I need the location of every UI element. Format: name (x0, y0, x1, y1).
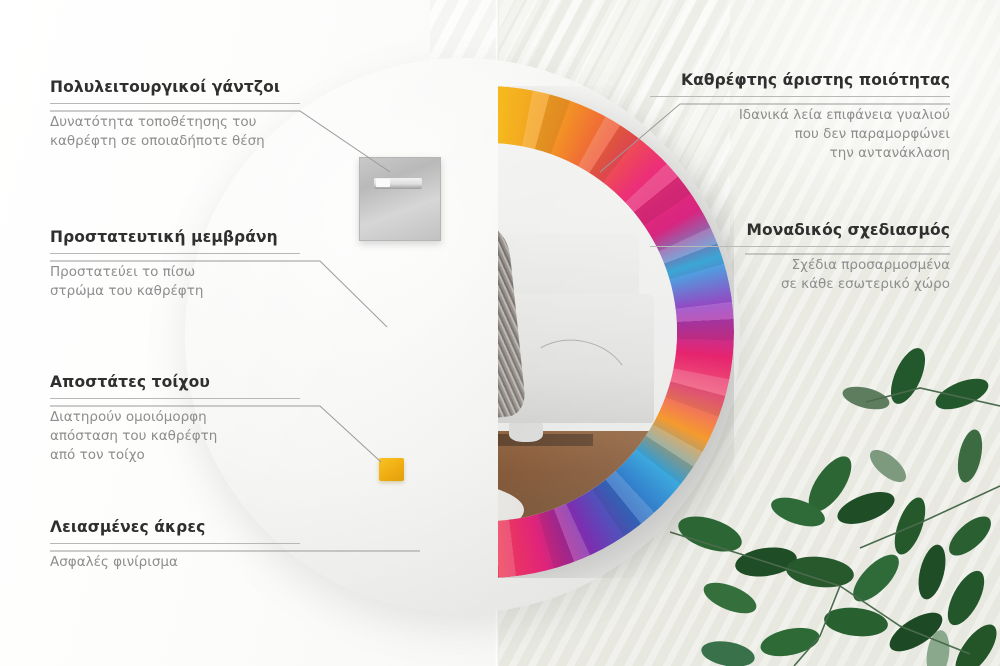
callout-wall-spacers: Αποστάτες τοίχου Διατηρούν ομοιόμορφη απ… (50, 373, 300, 465)
callout-rule (50, 543, 300, 544)
mirror-glass (498, 143, 677, 522)
wall-spacer-yellow (379, 458, 404, 481)
callout-multifunctional-hooks: Πολυλειτουργικοί γάντζοι Δυνατότητα τοπο… (50, 78, 300, 151)
mirror-glass-sheen (498, 143, 677, 522)
callout-body: Διατηρούν ομοιόμορφη απόσταση του καθρέφ… (50, 408, 300, 465)
callout-rule (650, 246, 950, 247)
callout-protective-membrane: Προστατευτική μεμβράνη Προστατεύει το πί… (50, 228, 300, 301)
callout-top-quality-mirror: Καθρέφτης άριστης ποιότητας Ιδανικά λεία… (650, 71, 950, 163)
hook-slot (374, 178, 422, 189)
callout-title: Αποστάτες τοίχου (50, 373, 300, 391)
callout-title: Λειασμένες άκρες (50, 518, 300, 536)
callout-title: Προστατευτική μεμβράνη (50, 228, 300, 246)
callout-rule (650, 96, 950, 97)
infographic-canvas: Πολυλειτουργικοί γάντζοι Δυνατότητα τοπο… (0, 0, 1000, 666)
callout-title: Πολυλειτουργικοί γάντζοι (50, 78, 300, 96)
callout-rule (50, 398, 300, 399)
callout-body: Δυνατότητα τοποθέτησης του καθρέφτη σε ο… (50, 113, 300, 151)
hanging-hook-plate (359, 157, 441, 241)
callout-smoothed-edges: Λειασμένες άκρες Ασφαλές φινίρισμα (50, 518, 300, 572)
callout-body: Σχέδια προσαρμοσμένα σε κάθε εσωτερικό χ… (650, 256, 950, 294)
callout-title: Καθρέφτης άριστης ποιότητας (650, 71, 950, 89)
callout-body: Προστατεύει το πίσω στρώμα του καθρέφτη (50, 263, 300, 301)
callout-body: Ιδανικά λεία επιφάνεια γυαλιού που δεν π… (650, 106, 950, 163)
callout-rule (50, 103, 300, 104)
callout-unique-design: Μοναδικός σχεδιασμός Σχέδια προσαρμοσμέν… (650, 221, 950, 294)
callout-rule (50, 253, 300, 254)
callout-body: Ασφαλές φινίρισμα (50, 553, 300, 572)
callout-title: Μοναδικός σχεδιασμός (650, 221, 950, 239)
